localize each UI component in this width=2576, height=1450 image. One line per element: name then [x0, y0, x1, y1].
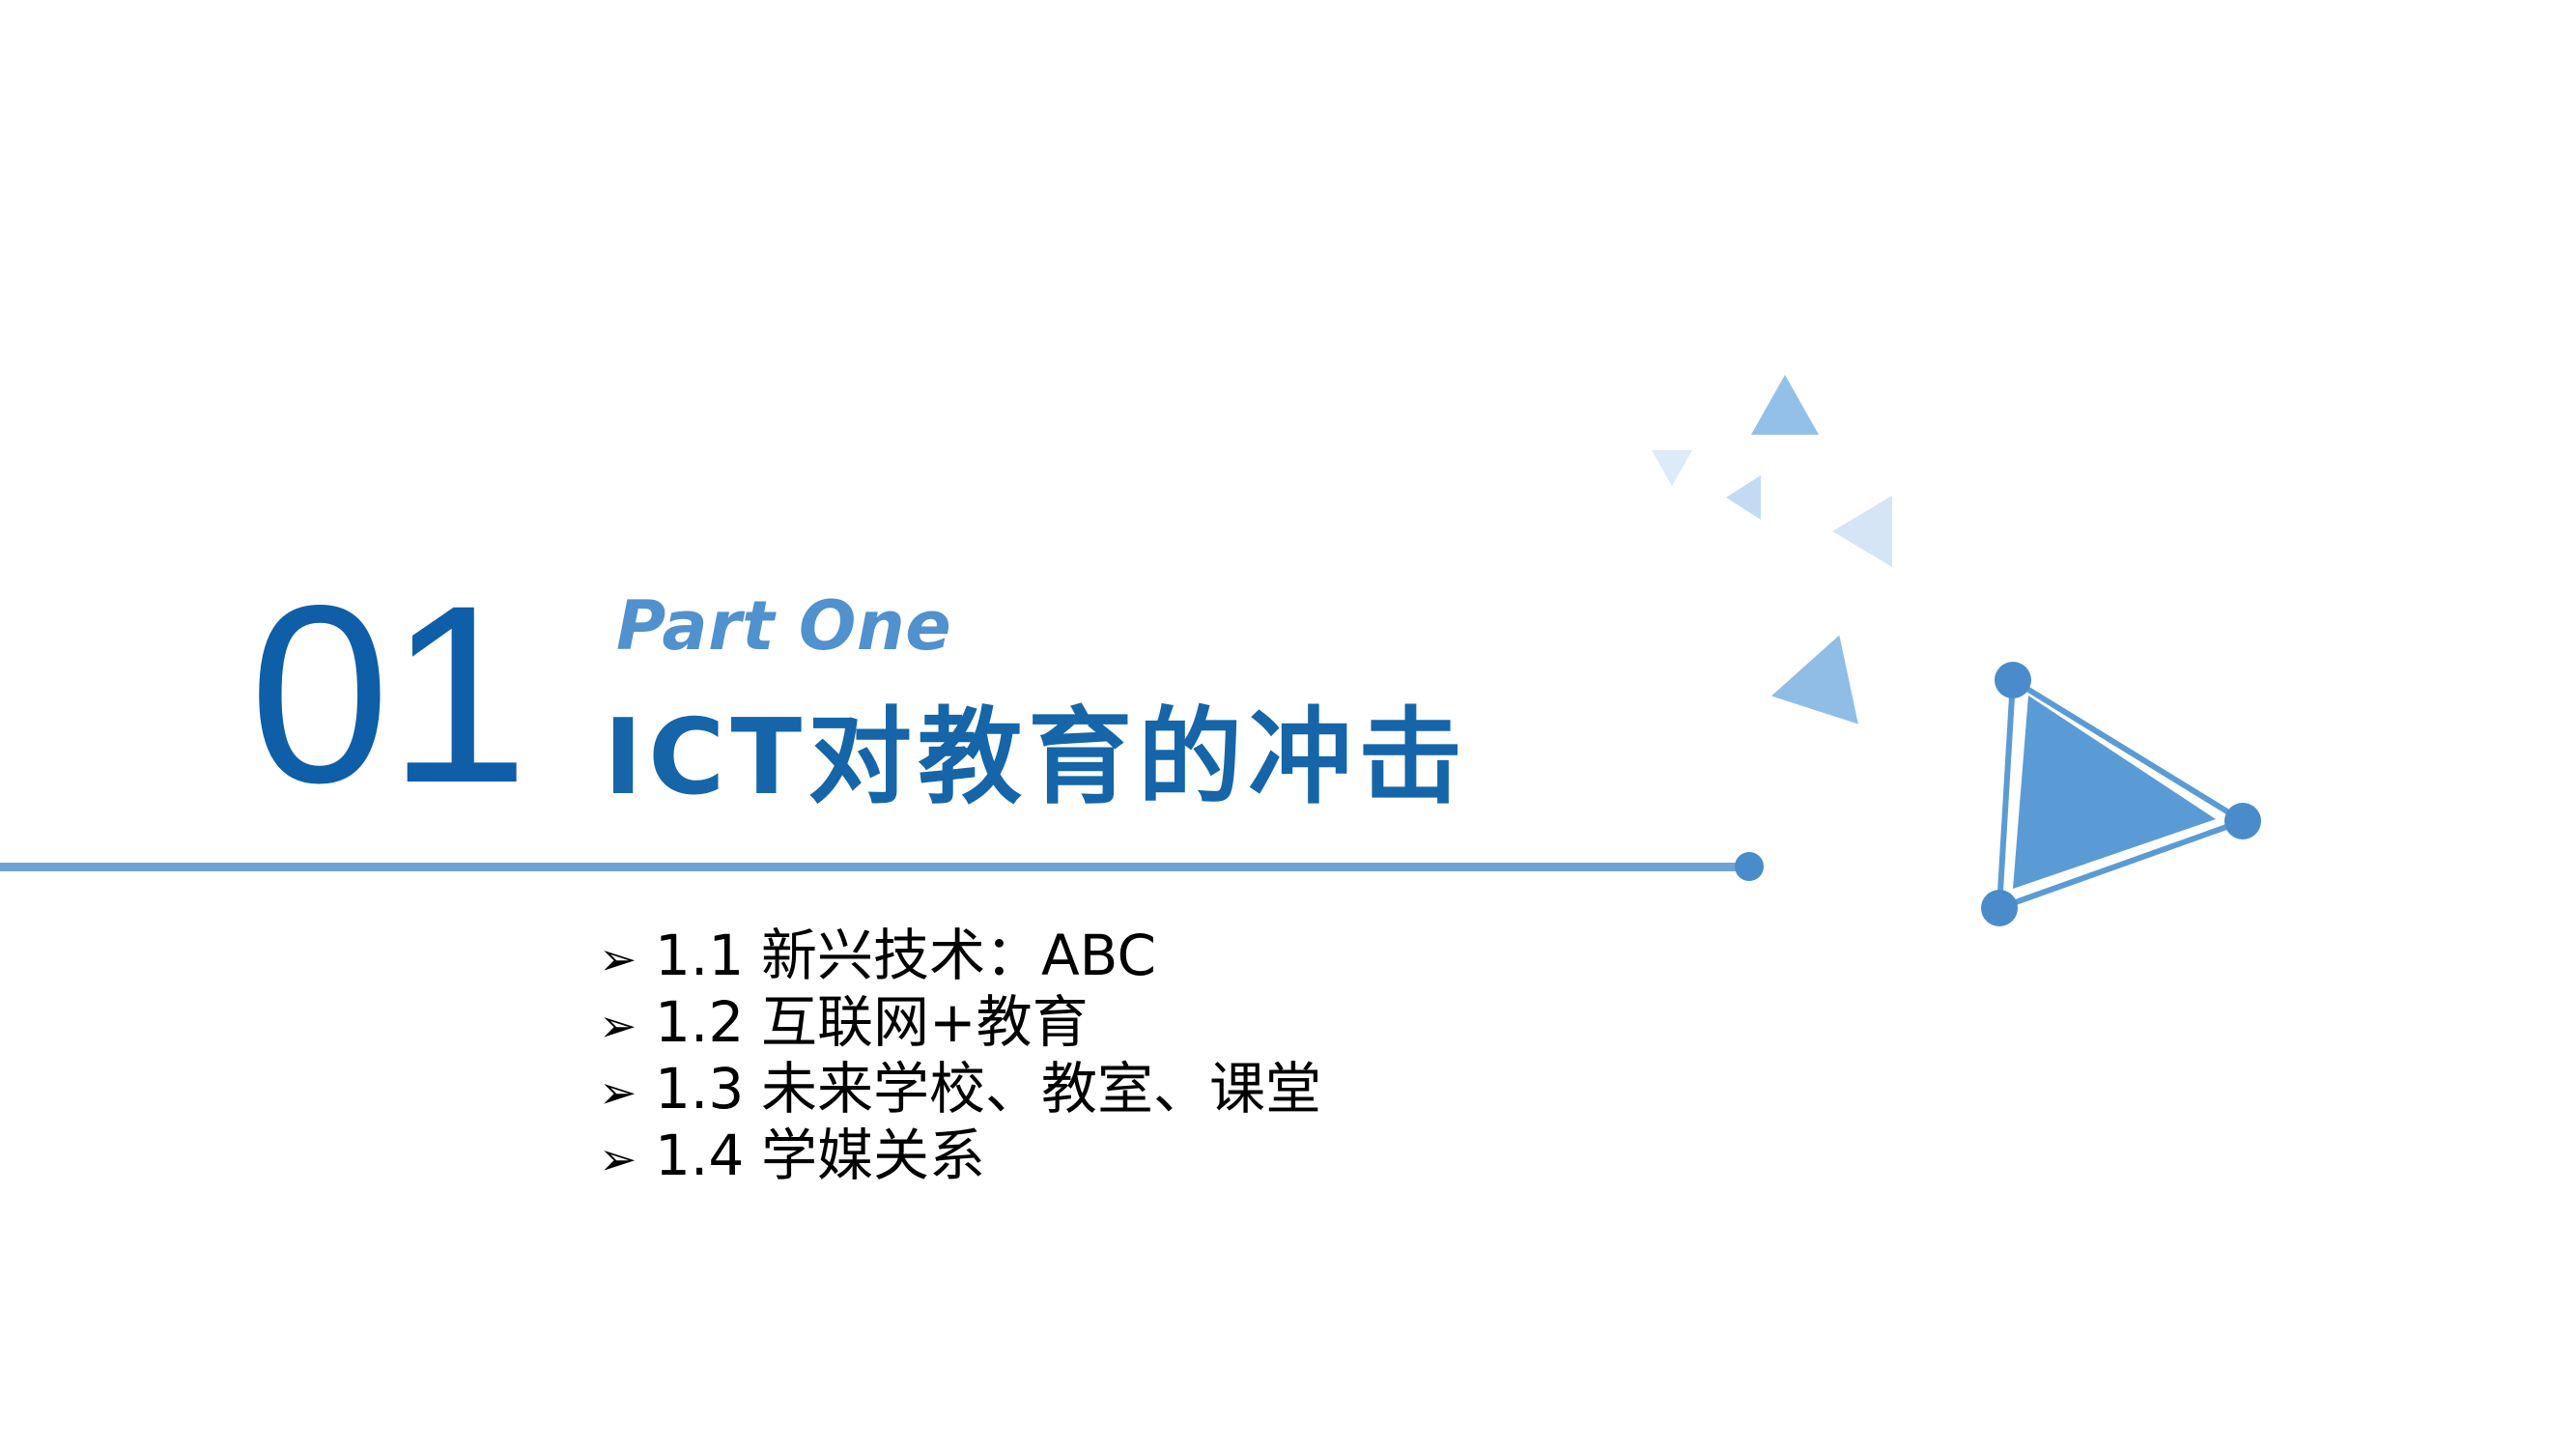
list-item[interactable]: ➢1.4学媒关系: [599, 1123, 1321, 1189]
divider: [0, 863, 1746, 871]
bullet-arrow-icon: ➢: [599, 1066, 655, 1121]
triangle-up-icon: [1751, 375, 1819, 435]
triangle-down-icon: [1652, 450, 1692, 486]
bullet-arrow-icon: ➢: [599, 1000, 655, 1054]
list-item-label: 新兴技术：ABC: [761, 923, 1156, 989]
list-item-number: 1.1: [655, 923, 761, 989]
list-item-number: 1.2: [655, 989, 761, 1056]
presentation-slide: 01 Part One ICT对教育的冲击 ➢1.1新兴技术：ABC➢1.2互联…: [0, 0, 2576, 1450]
list-item[interactable]: ➢1.2互联网+教育: [599, 989, 1321, 1056]
list-item[interactable]: ➢1.1新兴技术：ABC: [599, 923, 1321, 989]
list-item-label: 学媒关系: [761, 1123, 985, 1189]
triangle-left-large-icon: [1832, 496, 1892, 567]
triangle-left-small-icon: [1726, 475, 1761, 520]
list-item-number: 1.3: [655, 1056, 761, 1123]
section-number: 01: [249, 568, 526, 821]
list-item-label: 互联网+教育: [761, 989, 1089, 1056]
page-title: ICT对教育的冲击: [604, 700, 1468, 817]
list-item-label: 未来学校、教室、课堂: [761, 1056, 1321, 1123]
part-label: Part One: [616, 592, 951, 660]
bullet-arrow-icon: ➢: [599, 933, 655, 987]
divider-end-dot-icon: [1735, 852, 1764, 881]
agenda-list: ➢1.1新兴技术：ABC➢1.2互联网+教育➢1.3未来学校、教室、课堂➢1.4…: [599, 923, 1321, 1189]
triangle-left-medium-icon: [1762, 636, 1858, 741]
triangle-play-logo-icon: [1953, 640, 2281, 939]
list-item[interactable]: ➢1.3未来学校、教室、课堂: [599, 1056, 1321, 1123]
bullet-arrow-icon: ➢: [599, 1133, 655, 1187]
list-item-number: 1.4: [655, 1123, 761, 1189]
